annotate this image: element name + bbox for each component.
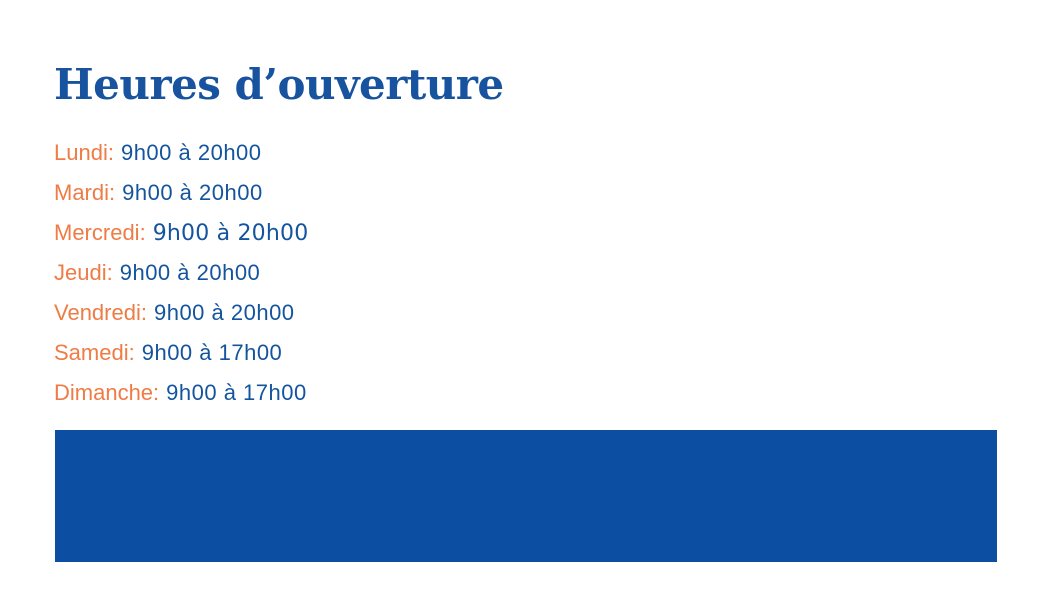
day-label: Dimanche: (54, 373, 159, 413)
page-title: Heures d’ouverture (54, 60, 504, 110)
opening-hours-list: Lundi: 9h00 à 20h00 Mardi: 9h00 à 20h00 … (54, 133, 654, 413)
day-label: Mercredi: (54, 213, 146, 253)
day-label: Mardi: (54, 173, 115, 213)
day-label: Lundi: (54, 133, 114, 173)
slide-canvas: Heures d’ouverture Lundi: 9h00 à 20h00 M… (0, 0, 1050, 600)
list-item: Mercredi: 9h00 à 20h00 (54, 213, 654, 253)
list-item: Dimanche: 9h00 à 17h00 (54, 373, 654, 413)
day-time: 9h00 à 20h00 (113, 253, 261, 293)
list-item: Mardi: 9h00 à 20h00 (54, 173, 654, 213)
day-time: 9h00 à 20h00 (115, 173, 263, 213)
day-label: Vendredi: (54, 293, 147, 333)
day-time: 9h00 à 17h00 (135, 333, 283, 373)
day-time: 9h00 à 20h00 (147, 293, 295, 333)
day-label: Samedi: (54, 333, 135, 373)
content-band (55, 430, 997, 562)
day-time: 9h00 à 17h00 (159, 373, 307, 413)
day-time: 9h00 à 20h00 (114, 133, 262, 173)
day-label: Jeudi: (54, 253, 113, 293)
list-item: Vendredi: 9h00 à 20h00 (54, 293, 654, 333)
list-item: Jeudi: 9h00 à 20h00 (54, 253, 654, 293)
list-item: Lundi: 9h00 à 20h00 (54, 133, 654, 173)
day-time: 9h00 à 20h00 (146, 214, 309, 254)
list-item: Samedi: 9h00 à 17h00 (54, 333, 654, 373)
